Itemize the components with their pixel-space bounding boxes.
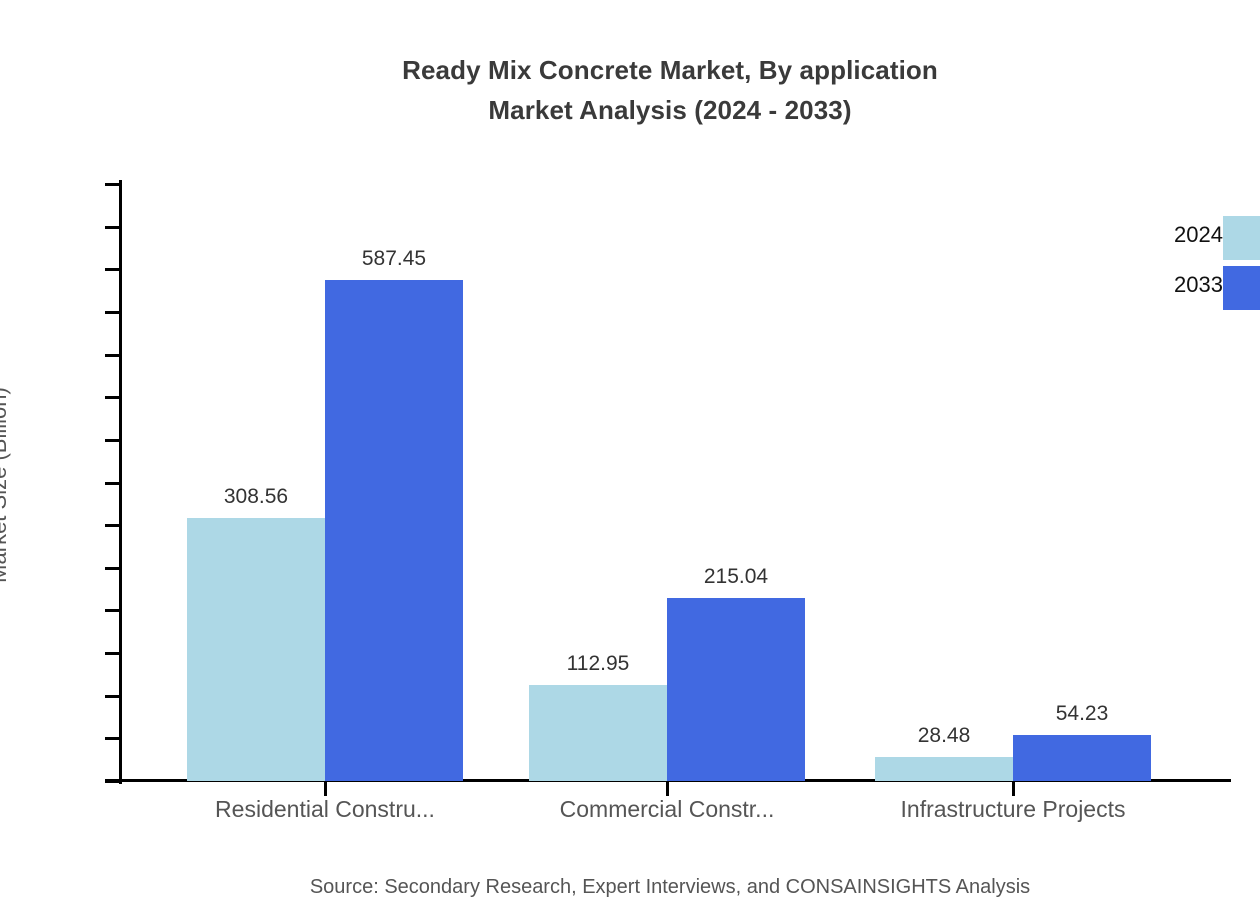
y-axis-tick-mark: [105, 695, 121, 698]
legend-item-2024[interactable]: 2024: [1130, 216, 1260, 266]
bar-chart-figure: Ready Mix Concrete Market, By applicatio…: [0, 0, 1260, 920]
y-axis-tick-mark: [105, 311, 121, 314]
y-axis-tick-mark: [105, 396, 121, 399]
y-axis-tick-mark: [105, 226, 121, 229]
legend-item-2033[interactable]: 2033: [1130, 266, 1260, 316]
bar-value-label: 587.45: [362, 246, 426, 272]
x-axis-category-label: Infrastructure Projects: [901, 792, 1126, 826]
y-axis-tick-mark: [105, 737, 121, 740]
bar-2033-group-2[interactable]: [667, 598, 805, 781]
x-axis-category-label: Residential Constru...: [215, 792, 435, 826]
y-axis-tick-mark: [105, 567, 121, 570]
y-axis-tick-mark: [105, 780, 121, 783]
legend-color-swatch: [1223, 216, 1260, 260]
legend-color-swatch: [1223, 266, 1260, 310]
y-axis-tick-mark: [105, 524, 121, 527]
bar-value-label: 308.56: [224, 484, 288, 510]
bar-value-label: 54.23: [1056, 701, 1109, 727]
y-axis-tick-mark: [105, 183, 121, 186]
chart-title-line-2: Market Analysis (2024 - 2033): [0, 90, 1260, 130]
bar-2024-group-2[interactable]: [529, 685, 667, 781]
bar-2024-group-1[interactable]: [187, 518, 325, 781]
x-axis-category-label: Commercial Constr...: [560, 792, 775, 826]
page-title: Ready Mix Concrete Market, By applicatio…: [0, 50, 1260, 130]
legend: 20242033: [1130, 216, 1260, 316]
bar-2024-group-3[interactable]: [875, 757, 1013, 781]
y-axis-title: Market Size (Billion): [0, 355, 12, 615]
bar-2033-group-3[interactable]: [1013, 735, 1151, 781]
y-axis-tick-mark: [105, 609, 121, 612]
legend-item-label: 2024: [1174, 222, 1223, 248]
bar-value-label: 112.95: [567, 651, 630, 677]
y-axis-tick-mark: [105, 652, 121, 655]
bar-value-label: 215.04: [704, 564, 768, 590]
bar-value-label: 28.48: [918, 723, 971, 749]
y-axis-tick-mark: [105, 439, 121, 442]
y-axis-tick-mark: [105, 354, 121, 357]
bar-2033-group-1[interactable]: [325, 280, 463, 781]
y-axis-tick-mark: [105, 482, 121, 485]
plot-area: 308.56587.45112.95215.0428.4854.23: [121, 184, 1231, 781]
chart-title-line-1: Ready Mix Concrete Market, By applicatio…: [0, 50, 1260, 90]
legend-item-label: 2033: [1174, 272, 1223, 298]
source-note: Source: Secondary Research, Expert Inter…: [0, 876, 1260, 899]
y-axis-tick-mark: [105, 268, 121, 271]
